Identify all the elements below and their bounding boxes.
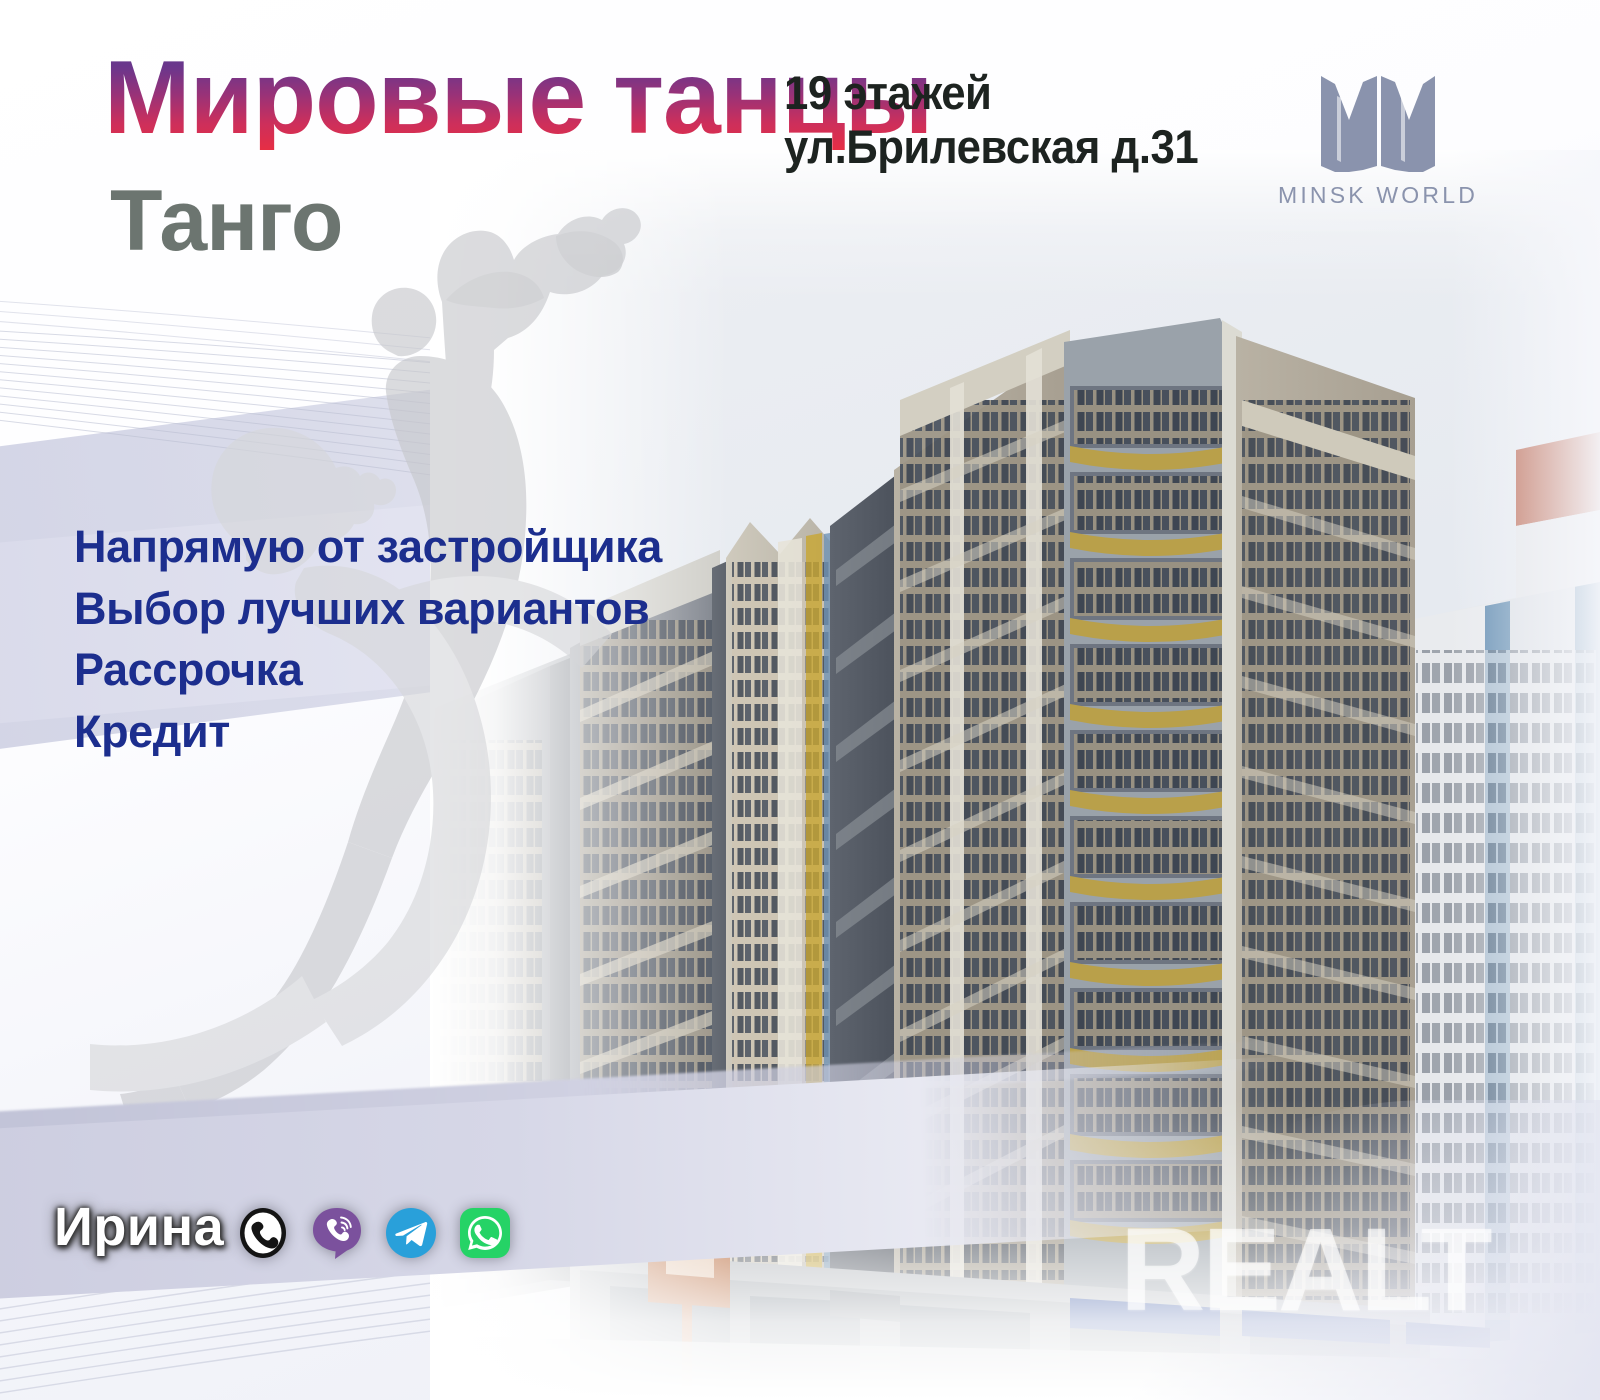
whatsapp-icon[interactable] (458, 1206, 512, 1260)
offers-list: Напрямую от застройщика Выбор лучших вар… (74, 516, 662, 763)
offer-item: Выбор лучших вариантов (74, 578, 662, 640)
viber-icon[interactable] (310, 1206, 364, 1260)
offer-item: Кредит (74, 701, 662, 763)
advert-poster: Мировые танцы Танго 19 этажей ул.Брилевс… (0, 0, 1600, 1400)
address-block: 19 этажей ул.Брилевская д.31 (784, 66, 1198, 173)
telegram-icon[interactable] (384, 1206, 438, 1260)
offer-item: Рассрочка (74, 639, 662, 701)
brand-name: MINSK WORLD (1268, 182, 1488, 209)
phone-icon[interactable] (236, 1206, 290, 1260)
page-subtitle: Танго (110, 178, 342, 264)
contact-icons (236, 1206, 512, 1260)
mw-monogram-icon (1315, 70, 1441, 178)
minsk-world-logo: MINSK WORLD (1268, 70, 1488, 220)
offer-item: Напрямую от застройщика (74, 516, 662, 578)
agent-name: Ирина (54, 1196, 224, 1258)
